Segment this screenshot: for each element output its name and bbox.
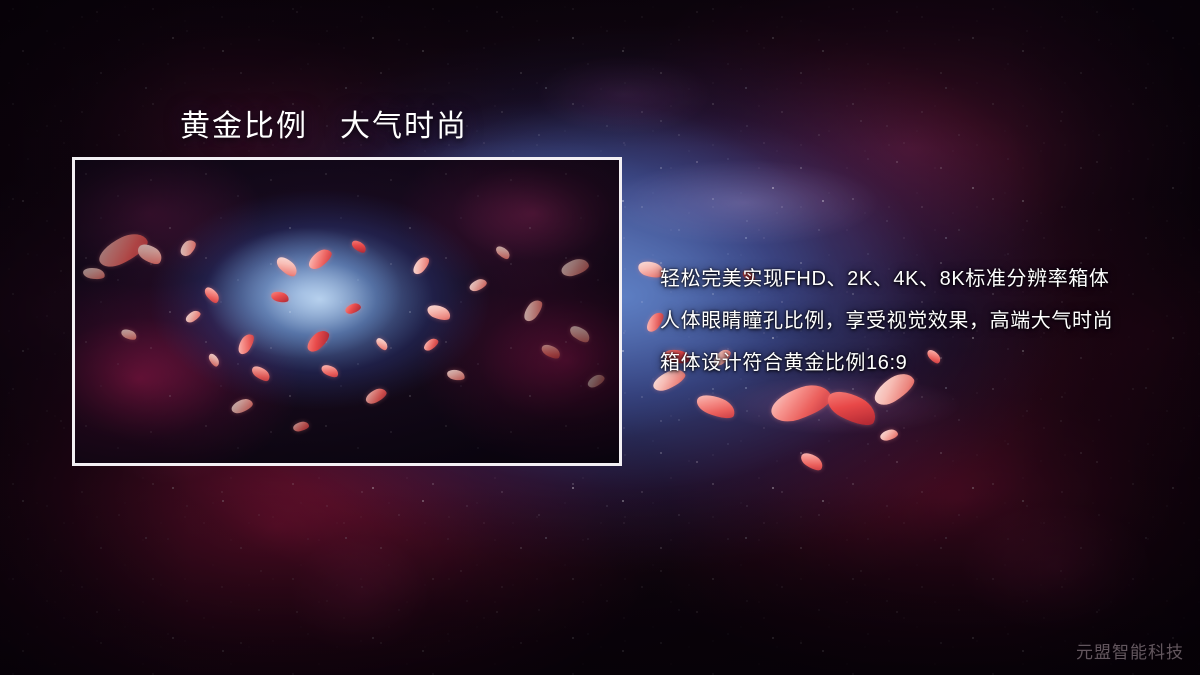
petal-right-large-2 bbox=[823, 384, 881, 431]
body-line-1: 轻松完美实现FHD、2K、4K、8K标准分辨率箱体 bbox=[660, 258, 1180, 300]
watermark: 元盟智能科技 bbox=[1076, 638, 1184, 663]
presentation-slide: 黄金比例 大气时尚 轻松完美实现FHD、2K、4K、8K标准分辨率箱体 人体眼睛… bbox=[0, 0, 1200, 675]
body-line-2: 人体眼睛瞳孔比例，享受视觉效果，高端大气时尚 bbox=[660, 300, 1180, 342]
image-frame bbox=[72, 157, 622, 466]
body-text-block: 轻松完美实现FHD、2K、4K、8K标准分辨率箱体 人体眼睛瞳孔比例，享受视觉效… bbox=[660, 258, 1180, 384]
petal-right-small-6 bbox=[879, 428, 899, 442]
body-line-3: 箱体设计符合黄金比例16:9 bbox=[660, 342, 1180, 384]
image-frame-content bbox=[75, 160, 619, 463]
petal-right-large-1 bbox=[767, 379, 835, 427]
framed-image-vignette bbox=[75, 160, 619, 463]
page-title: 黄金比例 大气时尚 bbox=[180, 101, 468, 145]
petal-right-mid-1 bbox=[694, 390, 738, 423]
petal-right-small-2 bbox=[798, 449, 825, 473]
